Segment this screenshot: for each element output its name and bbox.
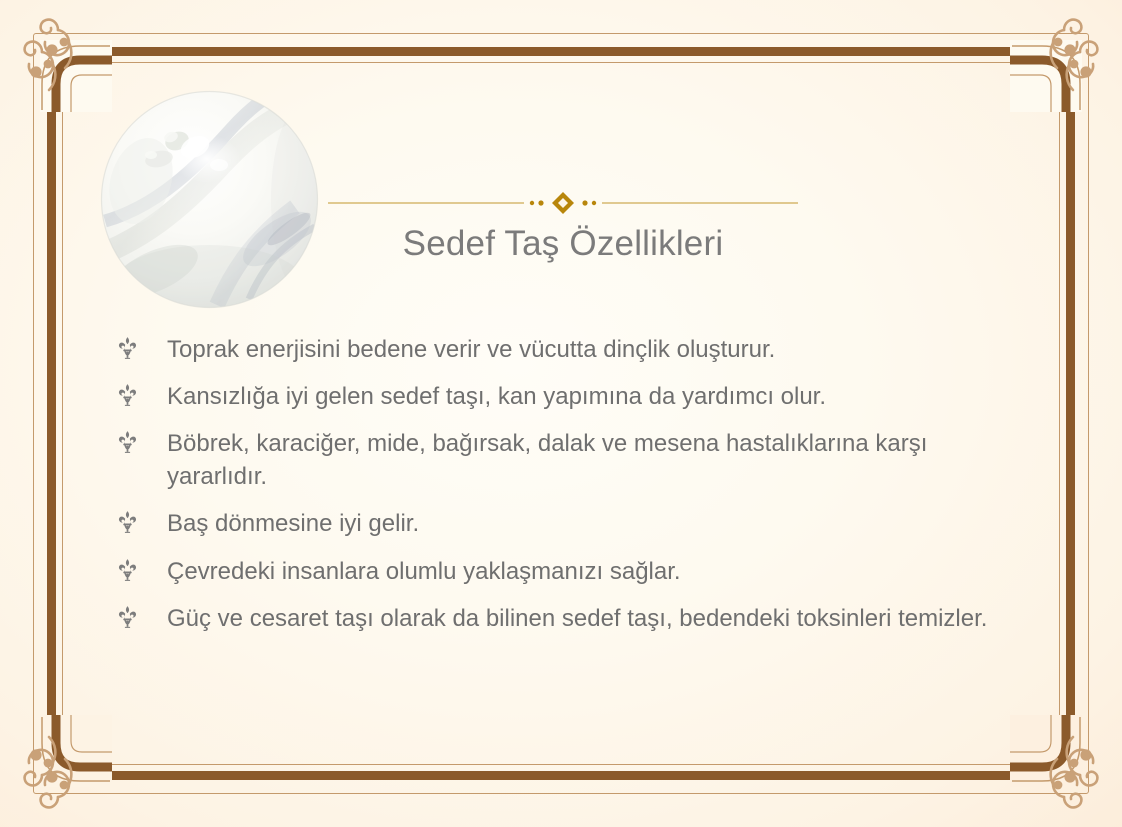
list-item: Çevredeki insanlara olumlu yaklaşmanızı …: [113, 555, 1013, 588]
sedef-stone-image: [99, 89, 320, 310]
list-item: Toprak enerjisini bedene verir ve vücutt…: [113, 333, 1013, 366]
diamond-divider-icon: [328, 190, 798, 216]
fleur-de-lis-icon: [113, 558, 141, 581]
list-item-text: Böbrek, karaciğer, mide, bağırsak, dalak…: [167, 427, 1013, 493]
list-item-text: Güç ve cesaret taşı olarak da bilinen se…: [167, 602, 1013, 635]
fleur-de-lis-icon: [113, 336, 141, 359]
fleur-de-lis-icon: [113, 605, 141, 628]
fleur-de-lis-icon: [113, 510, 141, 533]
list-item: Baş dönmesine iyi gelir.: [113, 507, 1013, 540]
header-block: Sedef Taş Özellikleri: [328, 190, 798, 264]
list-item: Böbrek, karaciğer, mide, bağırsak, dalak…: [113, 427, 1013, 493]
fleur-de-lis-icon: [113, 383, 141, 406]
list-item-text: Baş dönmesine iyi gelir.: [167, 507, 1013, 540]
list-item-text: Çevredeki insanlara olumlu yaklaşmanızı …: [167, 555, 1013, 588]
properties-list: Toprak enerjisini bedene verir ve vücutt…: [113, 333, 1013, 649]
list-item-text: Toprak enerjisini bedene verir ve vücutt…: [167, 333, 1013, 366]
info-card: Sedef Taş Özellikleri Toprak enerjisi: [0, 0, 1122, 827]
fleur-de-lis-icon: [113, 430, 141, 453]
list-item: Güç ve cesaret taşı olarak da bilinen se…: [113, 602, 1013, 635]
page-title: Sedef Taş Özellikleri: [328, 216, 798, 264]
list-item: Kansızlığa iyi gelen sedef taşı, kan yap…: [113, 380, 1013, 413]
list-item-text: Kansızlığa iyi gelen sedef taşı, kan yap…: [167, 380, 1013, 413]
